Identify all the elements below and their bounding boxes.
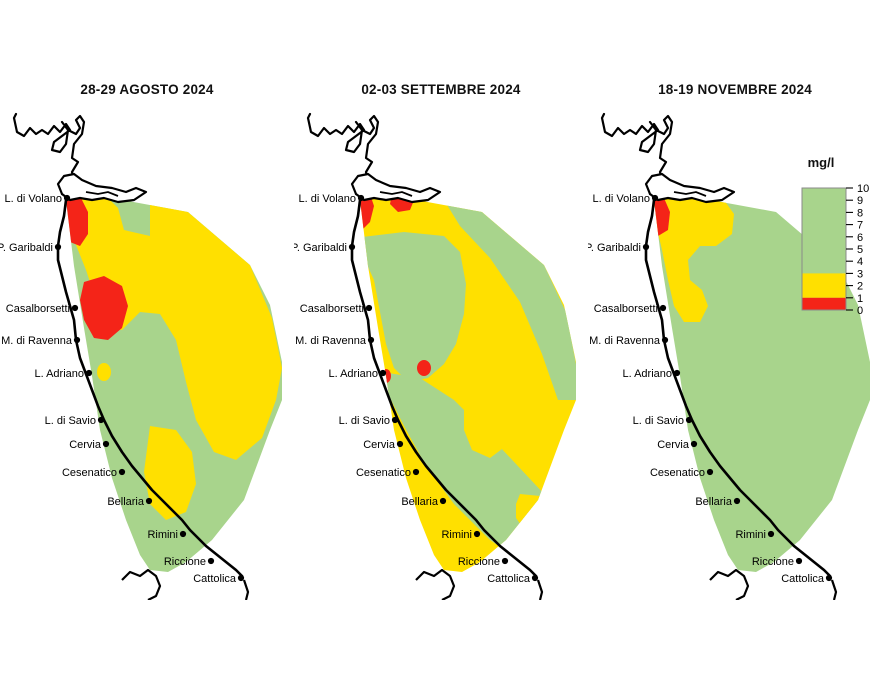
city-dot-l-adriano [380, 370, 386, 376]
city-dot-l-di-volano [64, 195, 70, 201]
legend-tick-5: 5 [857, 244, 863, 256]
band-yellow-1c [97, 363, 111, 381]
city-dot-casalborsetti [366, 305, 372, 311]
city-dot-l-di-savio [98, 417, 104, 423]
legend: mg/l 10 9 [780, 155, 880, 330]
city-label-cattolica: Cattolica [193, 573, 237, 585]
legend-tick-9: 9 [857, 195, 863, 207]
city-label-m-di-ravenna: M. di Ravenna [1, 335, 73, 347]
coastline-lagoon-2 [352, 174, 440, 202]
city-label-casalborsetti: Casalborsetti [594, 303, 658, 315]
city-dot-bellaria [146, 498, 152, 504]
legend-tick-labels: 10 9 8 7 6 5 4 3 2 1 0 [857, 183, 869, 317]
city-label-cattolica: Cattolica [781, 573, 825, 585]
zone-fill-group-2 [294, 100, 588, 600]
legend-tick-8: 8 [857, 207, 863, 219]
city-label-cesenatico: Cesenatico [62, 467, 117, 479]
city-dot-casalborsetti [72, 305, 78, 311]
city-label-m-di-ravenna: M. di Ravenna [589, 335, 661, 347]
city-dot-riccione [502, 558, 508, 564]
city-label-cattolica: Cattolica [487, 573, 531, 585]
legend-tick-4: 4 [857, 256, 863, 268]
city-dot-l-adriano [674, 370, 680, 376]
band-red-2d [417, 360, 431, 376]
city-dot-cesenatico [413, 469, 419, 475]
city-label-l-di-savio: L. di Savio [633, 415, 684, 427]
zone-fill-group-1 [0, 100, 294, 600]
city-dot-rimini [180, 531, 186, 537]
city-label-bellaria: Bellaria [401, 496, 439, 508]
city-label-riccione: Riccione [752, 556, 794, 568]
map-figure-1: L. di Volano P. Garibaldi Casalborsetti … [0, 100, 294, 600]
city-label-p-garibaldi: P. Garibaldi [0, 242, 53, 254]
map-panel-3: 18-19 NOVEMBRE 2024 [588, 0, 882, 682]
city-label-rimini: Rimini [147, 529, 178, 541]
city-dot-l-di-savio [392, 417, 398, 423]
city-dot-bellaria [734, 498, 740, 504]
city-label-riccione: Riccione [164, 556, 206, 568]
city-label-cesenatico: Cesenatico [650, 467, 705, 479]
city-dot-casalborsetti [660, 305, 666, 311]
city-label-casalborsetti: Casalborsetti [300, 303, 364, 315]
city-label-rimini: Rimini [735, 529, 766, 541]
city-label-casalborsetti: Casalborsetti [6, 303, 70, 315]
city-dot-l-adriano [86, 370, 92, 376]
city-dot-riccione [796, 558, 802, 564]
city-dot-riccione [208, 558, 214, 564]
city-label-l-di-savio: L. di Savio [339, 415, 390, 427]
city-dot-cattolica [238, 575, 244, 581]
city-label-bellaria: Bellaria [107, 496, 145, 508]
legend-tick-3: 3 [857, 268, 863, 280]
city-label-cervia: Cervia [363, 439, 396, 451]
legend-tick-10: 10 [857, 183, 869, 195]
band-yellow-2c [516, 494, 548, 532]
city-dot-l-di-savio [686, 417, 692, 423]
legend-ticks [846, 188, 853, 310]
city-dot-m-di-ravenna [74, 337, 80, 343]
city-dot-cesenatico [707, 469, 713, 475]
city-label-l-di-volano: L. di Volano [5, 193, 63, 205]
city-dot-cesenatico [119, 469, 125, 475]
city-label-l-adriano: L. Adriano [34, 368, 84, 380]
city-dot-p-garibaldi [643, 244, 649, 250]
panel-title-1: 28-29 AGOSTO 2024 [0, 82, 294, 97]
city-dot-p-garibaldi [349, 244, 355, 250]
city-label-p-garibaldi: P. Garibaldi [588, 242, 641, 254]
city-label-rimini: Rimini [441, 529, 472, 541]
city-label-l-di-savio: L. di Savio [45, 415, 96, 427]
city-dot-cattolica [532, 575, 538, 581]
city-label-l-adriano: L. Adriano [622, 368, 672, 380]
legend-band-red [802, 298, 846, 310]
city-label-cervia: Cervia [657, 439, 690, 451]
city-dot-p-garibaldi [55, 244, 61, 250]
map-panel-2: 02-03 SETTEMBRE 2024 [294, 0, 588, 682]
coastline-lagoon-3 [646, 174, 734, 202]
panel-title-3: 18-19 NOVEMBRE 2024 [588, 82, 882, 97]
city-dot-cervia [691, 441, 697, 447]
city-label-cesenatico: Cesenatico [356, 467, 411, 479]
legend-tick-6: 6 [857, 232, 863, 244]
legend-band-yellow [802, 273, 846, 297]
city-label-l-di-volano: L. di Volano [299, 193, 357, 205]
legend-band-green [802, 188, 846, 273]
legend-tick-2: 2 [857, 281, 863, 293]
city-label-m-di-ravenna: M. di Ravenna [295, 335, 367, 347]
city-dot-bellaria [440, 498, 446, 504]
city-dot-m-di-ravenna [662, 337, 668, 343]
legend-tick-7: 7 [857, 220, 863, 232]
legend-title: mg/l [780, 155, 862, 170]
legend-tick-1: 1 [857, 293, 863, 305]
city-dot-l-di-volano [358, 195, 364, 201]
city-label-l-di-volano: L. di Volano [593, 193, 651, 205]
city-dot-rimini [474, 531, 480, 537]
map-figure-2: L. di Volano P. Garibaldi Casalborsetti … [294, 100, 588, 600]
legend-tick-0: 0 [857, 305, 863, 317]
city-dot-l-di-volano [652, 195, 658, 201]
city-label-l-adriano: L. Adriano [328, 368, 378, 380]
coastline-lagoon-1 [58, 174, 146, 202]
city-dot-rimini [768, 531, 774, 537]
city-dot-cattolica [826, 575, 832, 581]
map-panel-1: 28-29 AGOSTO 2024 [0, 0, 294, 682]
city-label-bellaria: Bellaria [695, 496, 733, 508]
city-dot-m-di-ravenna [368, 337, 374, 343]
city-label-riccione: Riccione [458, 556, 500, 568]
city-dot-cervia [397, 441, 403, 447]
city-label-p-garibaldi: P. Garibaldi [294, 242, 347, 254]
city-label-cervia: Cervia [69, 439, 102, 451]
city-dot-cervia [103, 441, 109, 447]
figure-canvas: 28-29 AGOSTO 2024 [0, 0, 882, 682]
legend-colorbar: 10 9 8 7 6 5 4 3 2 1 0 [780, 181, 880, 326]
panel-title-2: 02-03 SETTEMBRE 2024 [294, 82, 588, 97]
